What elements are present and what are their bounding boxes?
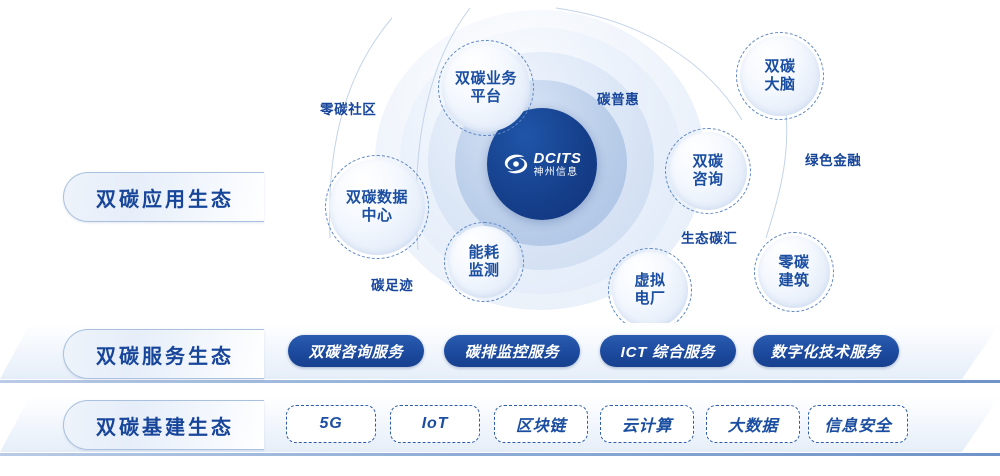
- base-pill-blockchain[interactable]: 区块链: [494, 405, 588, 443]
- caption-lingtan-shequ: 零碳社区: [320, 98, 376, 118]
- base-pill-big-data[interactable]: 大数据: [706, 405, 800, 443]
- bubble-lingtan-jianzhu[interactable]: 零碳 建筑: [754, 232, 834, 312]
- caption-shengtai-tanhui: 生态碳汇: [681, 227, 737, 247]
- service-pill-ict-zonghe-fuwu[interactable]: ICT 综合服务: [600, 335, 736, 367]
- bubble-shuangtan-shuju-zhongxin-body: 双碳数据 中心: [329, 159, 425, 255]
- bubble-shuangtan-shuju-zhongxin[interactable]: 双碳数据 中心: [325, 155, 429, 259]
- bubble-shuangtan-shuju-zhongxin-label: 双碳数据 中心: [346, 189, 408, 224]
- bubble-shuangtan-yewu-pingtai[interactable]: 双碳业务 平台: [438, 40, 534, 136]
- bubble-nenghao-jiance-body: 能耗 监测: [448, 226, 520, 298]
- caption-tan-puhui: 碳普惠: [597, 88, 639, 108]
- bubble-shuangtan-zixun-label: 双碳 咨询: [692, 153, 723, 188]
- bubble-xuni-dianchang[interactable]: 虚拟 电厂: [608, 248, 692, 332]
- bubble-lingtan-jianzhu-body: 零碳 建筑: [758, 236, 830, 308]
- layer-label-infrastructure[interactable]: 双碳基建生态: [63, 400, 264, 450]
- bubble-xuni-dianchang-label: 虚拟 电厂: [634, 272, 665, 307]
- bubble-shuangtan-zixun[interactable]: 双碳 咨询: [665, 128, 751, 214]
- diagram-root: DCITS 神州信息 双碳业务 平台双碳 大脑双碳数据 中心双碳 咨询能耗 监测…: [0, 0, 1000, 476]
- caption-tan-zuji: 碳足迹: [371, 274, 413, 294]
- layer-label-application-text: 双碳应用生态: [64, 183, 234, 212]
- logo-text-en: DCITS: [534, 151, 582, 166]
- logo-text-cn: 神州信息: [534, 168, 579, 178]
- base-pill-iot[interactable]: IoT: [390, 405, 480, 443]
- layer-label-service[interactable]: 双碳服务生态: [63, 329, 264, 379]
- bubble-shuangtan-danao-label: 双碳 大脑: [764, 58, 795, 93]
- layer-label-service-text: 双碳服务生态: [64, 340, 234, 369]
- bubble-xuni-dianchang-body: 虚拟 电厂: [612, 252, 688, 328]
- service-band-edge: [0, 380, 1000, 383]
- base-pill-5g[interactable]: 5G: [286, 405, 376, 443]
- bubble-shuangtan-zixun-body: 双碳 咨询: [669, 132, 747, 210]
- dcits-swirl-logo-icon: [503, 152, 529, 176]
- service-pill-shuangtan-zixun-fuwu[interactable]: 双碳咨询服务: [288, 335, 424, 367]
- layer-label-infrastructure-text: 双碳基建生态: [64, 411, 234, 440]
- bubble-shuangtan-danao[interactable]: 双碳 大脑: [736, 32, 824, 120]
- bubble-lingtan-jianzhu-label: 零碳 建筑: [778, 254, 809, 289]
- bubble-shuangtan-yewu-pingtai-label: 双碳业务 平台: [455, 70, 517, 105]
- bubble-shuangtan-danao-body: 双碳 大脑: [740, 36, 820, 116]
- service-pill-tanpai-jiankong-fuwu[interactable]: 碳排监控服务: [444, 335, 580, 367]
- bubble-nenghao-jiance[interactable]: 能耗 监测: [444, 222, 524, 302]
- bubble-shuangtan-yewu-pingtai-body: 双碳业务 平台: [442, 44, 530, 132]
- base-pill-info-security[interactable]: 信息安全: [808, 405, 908, 443]
- base-pill-cloud-computing[interactable]: 云计算: [600, 405, 694, 443]
- layer-label-application[interactable]: 双碳应用生态: [63, 172, 264, 222]
- bubble-nenghao-jiance-label: 能耗 监测: [468, 244, 499, 279]
- caption-lvse-jinrong: 绿色金融: [805, 149, 861, 169]
- service-pill-shuzihua-jishu-fuwu[interactable]: 数字化技术服务: [753, 335, 899, 367]
- infrastructure-band-edge: [0, 453, 1000, 456]
- application-ecosystem-cloud: DCITS 神州信息 双碳业务 平台双碳 大脑双碳数据 中心双碳 咨询能耗 监测…: [0, 0, 1000, 320]
